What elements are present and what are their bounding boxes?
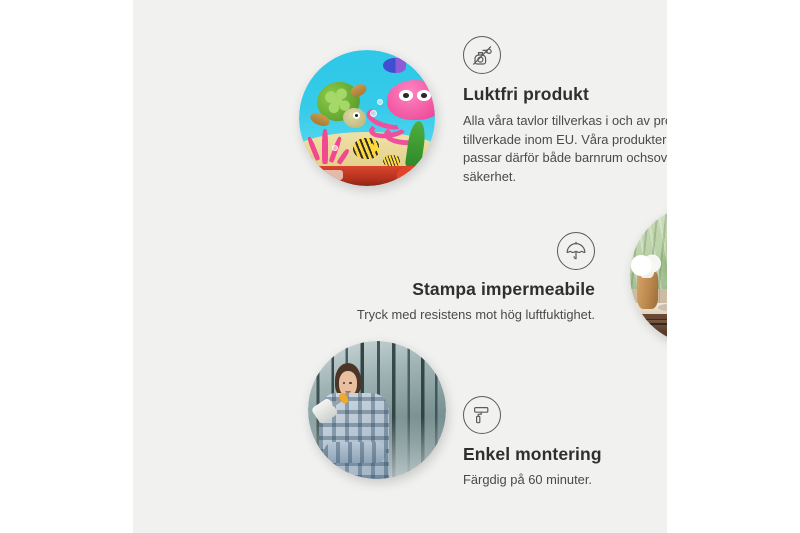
turtle-eye [353,112,360,119]
purple-fish [383,58,406,73]
octopus-eye [417,90,431,100]
umbrella-icon [557,232,595,270]
feature-block-enkel-montering: Enkel montering Färgdig på 60 minuter. [463,396,667,490]
feature-title: Luktfri produkt [463,84,667,106]
bubble [370,110,377,117]
crab [397,166,427,184]
coral-branch [337,148,350,164]
eye [349,382,351,384]
white-flowers [631,253,665,278]
pink-coral [304,121,350,165]
bathroom-vanity-circle-photo [630,205,667,345]
octopus-eye [399,90,413,100]
bubble [332,145,338,151]
octopus [381,80,435,143]
feature-description: Alla våra tavlor tillverkas i och av pro… [463,112,667,187]
no-fragrance-icon [463,36,501,74]
content-panel: Luktfri produkt Alla våra tavlor tillver… [133,0,667,533]
feature-description: Färgdig på 60 minuter. [463,471,667,490]
decorator-forest-circle-photo [308,341,446,479]
yellow-striped-fish [353,138,379,158]
underwater-cartoon-circle-photo [299,50,435,186]
folded-arms [324,442,386,463]
drawer-handle [646,323,667,324]
feature-title: Enkel montering [463,444,667,466]
feature-block-luktfri-produkt: Luktfri produkt Alla våra tavlor tillver… [463,36,667,187]
feature-title: Stampa impermeabile [329,279,595,301]
cabinet-drawer [633,319,667,331]
eye [343,382,345,384]
feature-description: Tryck med resistens mot hög luftfuktighe… [329,306,595,325]
octopus-body [387,80,435,120]
bubble [377,99,383,105]
feature-block-stampa-impermeabile: Stampa impermeabile Tryck med resistens … [329,232,595,325]
coral-branch [322,129,328,165]
infographic-canvas: Luktfri produkt Alla våra tavlor tillver… [0,0,800,533]
paint-roller-icon [463,396,501,434]
decorator-person [316,363,393,479]
wood-vanity-cabinet [630,314,667,345]
